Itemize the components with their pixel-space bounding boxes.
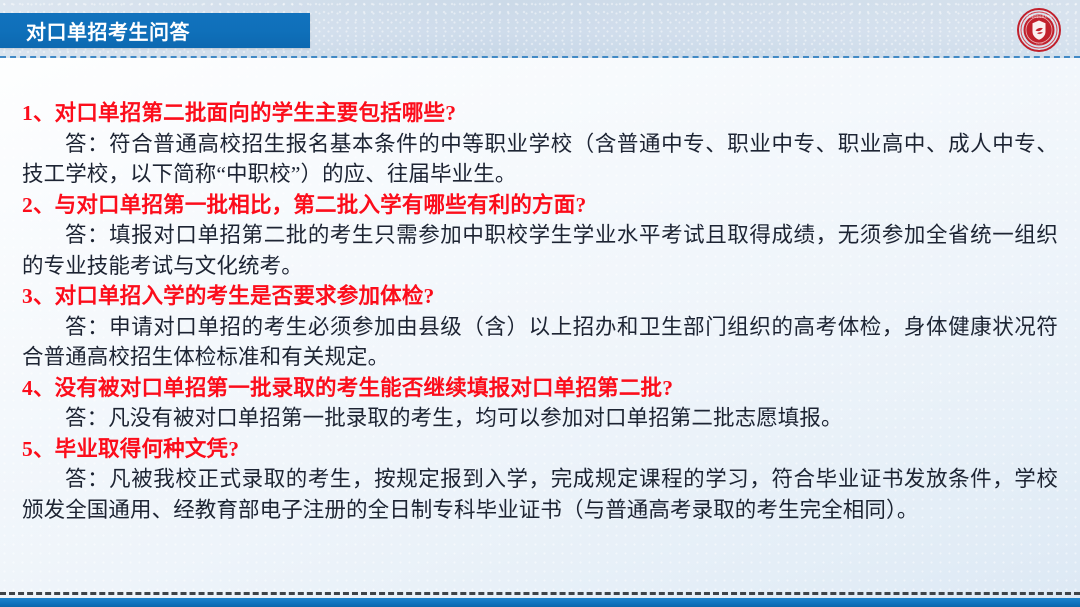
footer-bar xyxy=(0,598,1080,607)
svg-text:江苏联合职业技术学院: 江苏联合职业技术学院 xyxy=(1026,15,1052,19)
header-divider xyxy=(0,56,1080,58)
question-heading: 3、对口单招入学的考生是否要求参加体检? xyxy=(22,281,1058,312)
footer-divider xyxy=(0,592,1080,595)
qa-item: 1、对口单招第二批面向的学生主要包括哪些? 答：符合普通高校招生报名基本条件的中… xyxy=(0,98,1080,190)
question-heading: 4、没有被对口单招第一批录取的考生能否继续填报对口单招第二批? xyxy=(22,373,1058,404)
page-title: 对口单招考生问答 xyxy=(26,16,190,45)
qa-item: 3、对口单招入学的考生是否要求参加体检? 答：申请对口单招的考生必须参加由县级（… xyxy=(0,281,1080,373)
answer-paragraph: 答：符合普通高校招生报名基本条件的中等职业学校（含普通中专、职业中专、职业高中、… xyxy=(22,129,1058,190)
qa-list: 1、对口单招第二批面向的学生主要包括哪些? 答：符合普通高校招生报名基本条件的中… xyxy=(0,98,1080,525)
svg-text:1 9 5 8: 1 9 5 8 xyxy=(1035,44,1043,46)
qa-item: 2、与对口单招第一批相比，第二批入学有哪些有利的方面? 答：填报对口单招第二批的… xyxy=(0,190,1080,282)
slide-title-bar: 对口单招考生问答 xyxy=(0,13,310,48)
university-seal-icon: 江苏联合职业技术学院 1 9 5 8 xyxy=(1017,8,1061,52)
answer-paragraph: 答：凡没有被对口单招第一批录取的考生，均可以参加对口单招第二批志愿填报。 xyxy=(22,403,1058,434)
answer-paragraph: 答：凡被我校正式录取的考生，按规定报到入学，完成规定课程的学习，符合毕业证书发放… xyxy=(22,464,1058,525)
answer-paragraph: 答：填报对口单招第二批的考生只需参加中职校学生学业水平考试且取得成绩，无须参加全… xyxy=(22,220,1058,281)
answer-paragraph: 答：申请对口单招的考生必须参加由县级（含）以上招办和卫生部门组织的高考体检，身体… xyxy=(22,312,1058,373)
question-heading: 2、与对口单招第一批相比，第二批入学有哪些有利的方面? xyxy=(22,190,1058,221)
qa-item: 5、毕业取得何种文凭? 答：凡被我校正式录取的考生，按规定报到入学，完成规定课程… xyxy=(0,434,1080,526)
question-heading: 1、对口单招第二批面向的学生主要包括哪些? xyxy=(22,98,1058,129)
qa-container: 1、对口单招第二批面向的学生主要包括哪些? 答：符合普通高校招生报名基本条件的中… xyxy=(0,58,1080,525)
content-area: 1、对口单招第二批面向的学生主要包括哪些? 答：符合普通高校招生报名基本条件的中… xyxy=(0,58,1080,591)
slide-root: 对口单招考生问答 江苏联合职业技术学院 1 9 5 8 1、对口单招第二批面向的… xyxy=(0,0,1080,607)
question-heading: 5、毕业取得何种文凭? xyxy=(22,434,1058,465)
qa-item: 4、没有被对口单招第一批录取的考生能否继续填报对口单招第二批? 答：凡没有被对口… xyxy=(0,373,1080,434)
